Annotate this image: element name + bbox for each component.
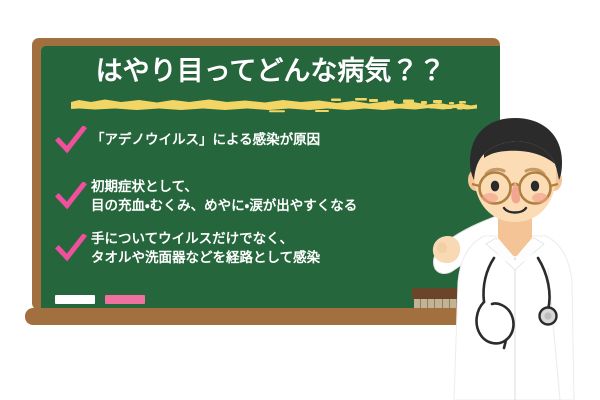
bullet-line: 手についてウイルスだけでなく、 (91, 230, 320, 249)
check-mark-icon (55, 182, 87, 212)
bullet-line: 目の充血・むくみ、めやに・涙が出やすくなる (91, 197, 357, 216)
bullet-text-symptoms: 初期症状として、 目の充血・むくみ、めやに・涙が出やすくなる (91, 178, 357, 216)
pink-chalk (105, 295, 145, 304)
check-mark-icon (55, 234, 87, 264)
bullet-line: 初期症状として、 (91, 178, 357, 197)
bullet-text-transmission: 手についてウイルスだけでなく、 タオルや洗面器などを経路として感染 (91, 230, 320, 268)
bullet-line: タオルや洗面器などを経路として感染 (91, 249, 320, 268)
check-mark-icon (55, 126, 87, 156)
slide-canvas: はやり目ってどんな病気？？ (0, 0, 600, 400)
title-underline (69, 96, 479, 114)
bullet-text-cause: 「アデノウイルス」による感染が原因 (91, 131, 320, 150)
page-title: はやり目ってどんな病気？？ (41, 58, 500, 85)
white-chalk (55, 295, 95, 304)
doctor-illustration (428, 118, 600, 400)
bullet-line: 「アデノウイルス」による感染が原因 (91, 131, 320, 150)
